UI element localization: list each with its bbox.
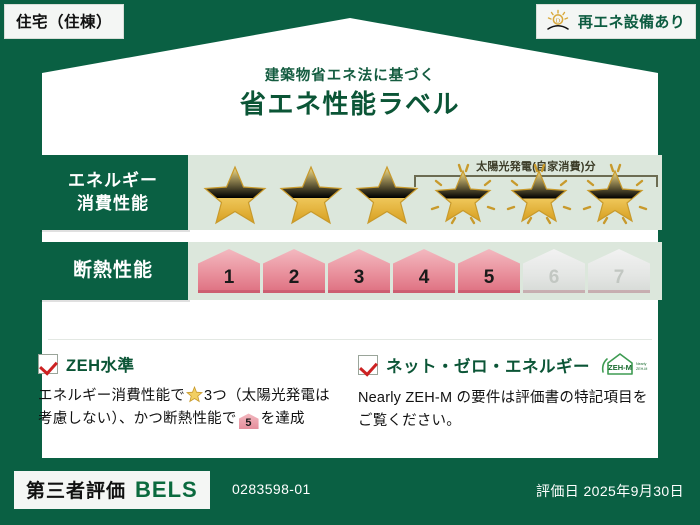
sun-icon: D [545, 9, 571, 33]
zeh-desc-part1: エネルギー消費性能で [38, 388, 185, 404]
check-icon [38, 354, 58, 374]
page-title: 省エネ性能ラベル [0, 84, 700, 121]
net-zero-heading: ネット・ゼロ・エネルギー ZEH-M Nearly ZEH-M [358, 352, 662, 378]
zeh-desc-part3: を達成 [261, 411, 305, 427]
certificate-number: 0283598-01 [232, 481, 311, 497]
insulation-level-house: 5 [458, 249, 520, 293]
bels-badge-en-label: BELS [135, 477, 198, 503]
star-icon-solar [578, 161, 652, 225]
bels-energy-label: 住宅（住棟） D 再エネ設備あり 建築物省エネ法に基づく 省エネ性能ラベル [0, 0, 700, 525]
svg-text:Nearly: Nearly [636, 362, 647, 366]
insulation-house-icon-inline: 5 [239, 413, 259, 429]
label-subtitle: 建築物省エネ法に基づく [0, 64, 700, 85]
energy-performance-row: エネルギー 消費性能 太陽光発電(自家消費)分 [38, 155, 662, 230]
insulation-performance-label: 断熱性能 [38, 242, 188, 300]
zeh-standard-title: ZEH水準 [66, 352, 135, 376]
evaluation-date: 評価日 2025年9月30日 [536, 481, 684, 501]
energy-label-line2: 消費性能 [77, 193, 149, 215]
insulation-rating-area: 1 2 3 4 5 6 7 [188, 242, 662, 300]
svg-text:ZEH-M: ZEH-M [636, 367, 647, 371]
svg-text:D: D [556, 18, 561, 25]
insulation-level-house: 3 [328, 249, 390, 293]
section-divider [48, 339, 652, 340]
insulation-level-house: 7 [588, 249, 650, 293]
insulation-level-house: 4 [393, 249, 455, 293]
renewable-equipment-badge: D 再エネ設備あり [536, 4, 696, 39]
insulation-performance-row: 断熱性能 1 2 3 4 5 6 7 [38, 242, 662, 300]
bels-third-party-badge: 第三者評価 BELS [14, 471, 210, 509]
performance-rows: エネルギー 消費性能 太陽光発電(自家消費)分 [38, 155, 662, 312]
star-icon-inline [186, 386, 203, 403]
net-zero-description: Nearly ZEH-M の要件は評価書の特記項目をご覧ください。 [358, 387, 662, 434]
energy-label-line1: エネルギー [68, 170, 158, 192]
star-icon [198, 161, 272, 225]
zeh-m-logo-icon: ZEH-M Nearly ZEH-M [600, 352, 650, 378]
net-zero-energy-block: ネット・ゼロ・エネルギー ZEH-M Nearly ZEH-M Nearly Z… [358, 352, 662, 434]
bels-badge-jp-label: 第三者評価 [26, 476, 126, 503]
insulation-level-house: 2 [263, 249, 325, 293]
renewable-equipment-label: 再エネ設備あり [578, 11, 685, 32]
energy-rating-area: 太陽光発電(自家消費)分 [188, 155, 662, 230]
star-icon [274, 161, 348, 225]
zeh-desc-star-count: 3つ [204, 388, 227, 404]
insulation-level-house: 6 [523, 249, 585, 293]
energy-performance-label: エネルギー 消費性能 [38, 155, 188, 230]
insulation-scale: 1 2 3 4 5 6 7 [198, 249, 650, 293]
star-icon-solar [502, 161, 576, 225]
zeh-standard-block: ZEH水準 エネルギー消費性能で3つ（太陽光発電は考慮しない）、かつ断熱性能で5… [38, 352, 342, 434]
zeh-standard-description: エネルギー消費性能で3つ（太陽光発電は考慮しない）、かつ断熱性能で5を達成 [38, 385, 342, 432]
check-icon [358, 355, 378, 375]
criteria-section: ZEH水準 エネルギー消費性能で3つ（太陽光発電は考慮しない）、かつ断熱性能で5… [38, 352, 662, 434]
net-zero-title: ネット・ゼロ・エネルギー [386, 353, 590, 377]
star-icon-solar [426, 161, 500, 225]
footer: 第三者評価 BELS 0283598-01 評価日 2025年9月30日 [0, 463, 700, 525]
star-rating [198, 161, 662, 225]
star-icon [350, 161, 424, 225]
insulation-level-house: 1 [198, 249, 260, 293]
zeh-standard-heading: ZEH水準 [38, 352, 342, 376]
svg-text:ZEH-M: ZEH-M [608, 363, 632, 372]
dwelling-type-tag: 住宅（住棟） [4, 4, 124, 39]
